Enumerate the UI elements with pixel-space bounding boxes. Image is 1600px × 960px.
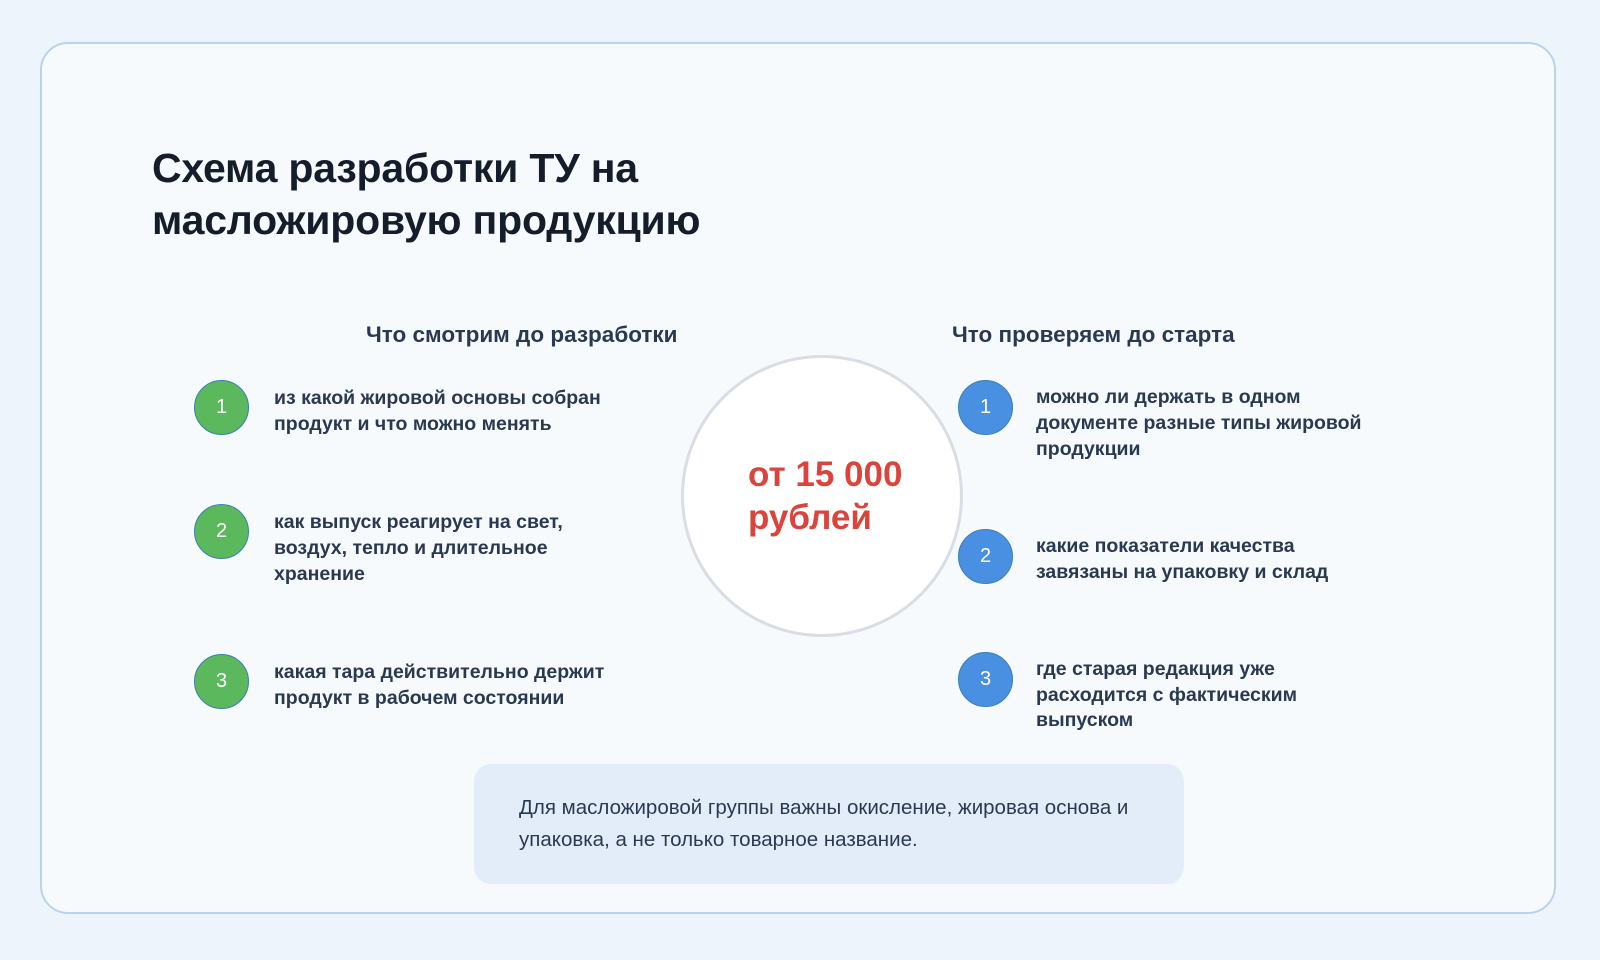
- right-column-list: 1 можно ли держать в одном документе раз…: [958, 380, 1378, 800]
- footer-note: Для масложировой группы важны окисление,…: [474, 764, 1184, 884]
- list-item-label: из какой жировой основы собран продукт и…: [274, 386, 624, 438]
- page-title: Схема разработки ТУ на масложировую прод…: [152, 142, 972, 247]
- list-item: 1 можно ли держать в одном документе раз…: [958, 380, 1378, 463]
- list-item: 1 из какой жировой основы собран продукт…: [194, 380, 624, 438]
- step-badge-right-3: 3: [958, 652, 1013, 707]
- price-circle: от 15 000 рублей: [681, 355, 963, 637]
- price-label: от 15 000 рублей: [748, 453, 908, 539]
- left-column-list: 1 из какой жировой основы собран продукт…: [194, 380, 624, 711]
- step-badge-left-3: 3: [194, 654, 249, 709]
- step-badge-left-2: 2: [194, 504, 249, 559]
- left-column-heading: Что смотрим до разработки: [366, 322, 678, 348]
- step-badge-left-1: 1: [194, 380, 249, 435]
- list-item-label: какие показатели качества завязаны на уп…: [1036, 534, 1378, 586]
- list-item-label: можно ли держать в одном документе разны…: [1036, 385, 1378, 463]
- page-title-line-1: Схема разработки ТУ на: [152, 142, 972, 194]
- list-item-label: как выпуск реагирует на свет, воздух, те…: [274, 510, 624, 588]
- footer-note-text: Для масложировой группы важны окисление,…: [474, 792, 1184, 856]
- list-item-label: какая тара действительно держит продукт …: [274, 660, 624, 712]
- list-item-label: где старая редакция уже расходится с фак…: [1036, 657, 1378, 735]
- page-title-line-2: масложировую продукцию: [152, 194, 972, 246]
- list-item: 3 какая тара действительно держит продук…: [194, 654, 624, 712]
- step-badge-right-2: 2: [958, 529, 1013, 584]
- list-item: 3 где старая редакция уже расходится с ф…: [958, 652, 1378, 735]
- list-item: 2 как выпуск реагирует на свет, воздух, …: [194, 504, 624, 588]
- main-card: Схема разработки ТУ на масложировую прод…: [40, 42, 1556, 914]
- right-column-heading: Что проверяем до старта: [952, 322, 1235, 348]
- infographic-canvas: Схема разработки ТУ на масложировую прод…: [0, 0, 1600, 960]
- list-item: 2 какие показатели качества завязаны на …: [958, 529, 1378, 586]
- step-badge-right-1: 1: [958, 380, 1013, 435]
